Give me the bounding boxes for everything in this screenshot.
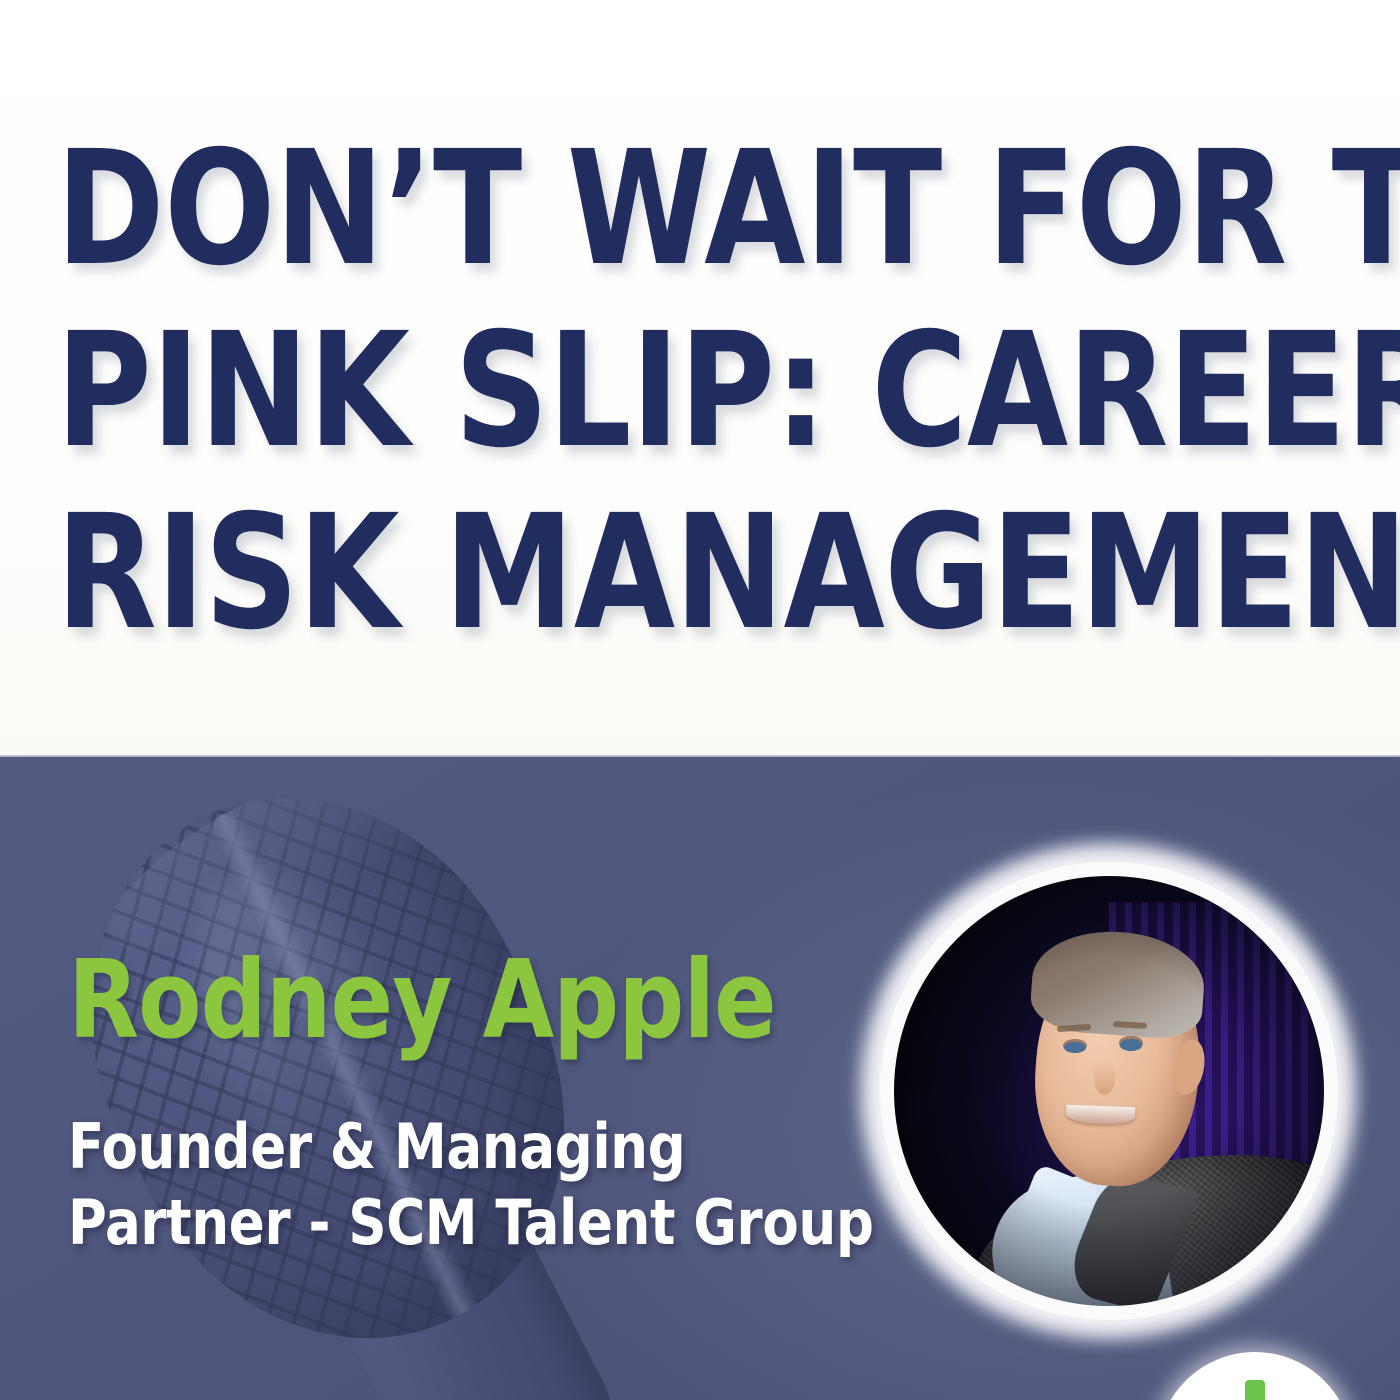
episode-title: DON’T WAIT FOR THE PINK SLIP: CAREER RIS… xyxy=(0,118,1400,664)
guest-name: Rodney Apple xyxy=(68,947,771,1055)
guest-role-line-1: Founder & Managing xyxy=(68,1109,771,1185)
leaf-icon xyxy=(1245,1380,1265,1400)
title-panel: DON’T WAIT FOR THE PINK SLIP: CAREER RIS… xyxy=(0,0,1400,757)
guest-role: Founder & Managing Partner - SCM Talent … xyxy=(68,1109,808,1261)
podcast-cover-art: DON’T WAIT FOR THE PINK SLIP: CAREER RIS… xyxy=(0,0,1400,1400)
avatar: Rodney Apple headshot xyxy=(880,862,1338,1320)
guest-portrait-photo: Rodney Apple headshot xyxy=(894,876,1324,1306)
title-line-3: RISK MANAGEMENT xyxy=(56,482,1344,664)
guest-info: Rodney Apple Founder & Managing Partner … xyxy=(68,947,808,1261)
title-line-2: PINK SLIP: CAREER xyxy=(56,300,1344,482)
title-line-1: DON’T WAIT FOR THE xyxy=(56,118,1344,300)
portrait-vignette xyxy=(894,876,1324,1306)
guest-role-line-2: Partner - SCM Talent Group xyxy=(68,1185,771,1261)
